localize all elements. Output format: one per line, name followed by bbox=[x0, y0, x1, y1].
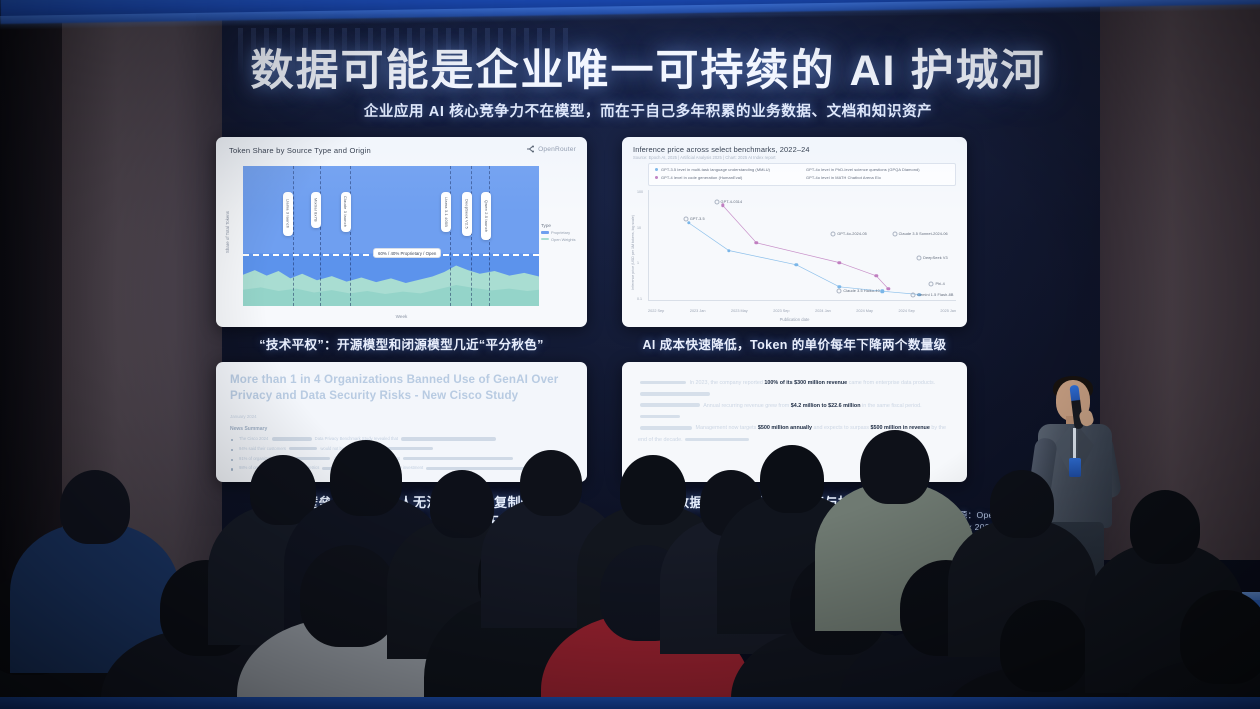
chart2-xtick: 2025 Jan bbox=[940, 309, 956, 313]
blurred-text-run bbox=[640, 381, 686, 385]
conference-photo: 数据可能是企业唯一可持续的 AI 护城河 企业应用 AI 核心竞争力不在模型，而… bbox=[0, 0, 1260, 709]
blurred-text-run bbox=[640, 392, 710, 396]
audience-member-head bbox=[60, 470, 130, 544]
chart2-ytick: 10 bbox=[637, 226, 643, 230]
legend-swatch bbox=[541, 231, 549, 234]
chart1-xlabel: Week bbox=[216, 314, 587, 319]
blurred-text-run bbox=[640, 426, 692, 430]
chart2-legend-item: GPT-4o level in MATH Chatbot Arena Elo bbox=[806, 175, 949, 180]
openrouter-brand: OpenRouter bbox=[526, 145, 576, 153]
audience-member-head bbox=[1130, 490, 1200, 564]
legend-dot bbox=[655, 176, 658, 179]
openrouter-label: OpenRouter bbox=[538, 146, 576, 153]
chart2-annotation-marker bbox=[714, 200, 719, 205]
chart-card-inference-price: Inference price across select benchmarks… bbox=[622, 137, 967, 327]
chart1-marker: DeepSeek V2.5 bbox=[462, 192, 472, 236]
chart2-annotation-label: DeepSeek V3 bbox=[923, 256, 948, 260]
revenue-paragraph: In 2023, the company reported 100% of it… bbox=[638, 378, 951, 401]
chart1-ylabel: Share of Total Tokens bbox=[225, 211, 230, 253]
chart1-marker: Mixtral 8x7B bbox=[311, 192, 321, 228]
chart1-event-line bbox=[471, 166, 472, 306]
audience-member-head bbox=[1000, 600, 1088, 692]
chart2-yticks: 1001010.1 bbox=[637, 190, 643, 301]
chart2-annotation-label: Claude 3.5 Sonnet-2024-06 bbox=[899, 232, 948, 236]
chart2-legend-item: GPT-4 level in code generation (HumanEva… bbox=[655, 175, 798, 180]
chart2-legend: GPT-3.5 level in multi-task language und… bbox=[648, 163, 956, 186]
chart2-xtick: 2023 Sep bbox=[773, 309, 789, 313]
audience-member-head bbox=[300, 545, 398, 647]
chart1-legend-item: Proprietary bbox=[541, 230, 579, 235]
chart2-xtick: 2024 Jan bbox=[815, 309, 831, 313]
revenue-highlight: $500 million annually bbox=[758, 425, 812, 431]
audience-member-head bbox=[1180, 590, 1260, 684]
chart2-plot: GPT-3.5GPT-4-0314GPT-4o-2024-05Claude 3.… bbox=[648, 190, 956, 301]
chart2-annotation-marker bbox=[837, 289, 842, 294]
chart2-annotation-label: GPT-3.5 bbox=[690, 217, 705, 221]
cisco-bullet: 94% said their customers would not buy f… bbox=[230, 446, 573, 452]
caption-left: “技术平权”：开源模型和闭源模型几近“平分秋色” bbox=[216, 334, 587, 353]
chart2-annotation-marker bbox=[929, 281, 934, 286]
slide-subtitle: 企业应用 AI 核心竞争力不在模型，而在于自己多年积累的业务数据、文档和知识资产 bbox=[196, 100, 1100, 121]
chart1-marker: Llama 3 launch bbox=[283, 192, 293, 236]
audience-member-head bbox=[330, 440, 402, 516]
chart1-legend: Type Proprietary Open Weights bbox=[541, 223, 579, 243]
chart2-annotation-marker bbox=[831, 232, 836, 237]
blurred-text-run bbox=[640, 415, 680, 419]
chart2-xticks: 2022 Sep2023 Jan2023 May2023 Sep2024 Jan… bbox=[648, 309, 956, 313]
legend-dot bbox=[655, 168, 658, 171]
chart2-lines bbox=[649, 190, 956, 300]
chart2-ytick: 100 bbox=[637, 190, 643, 194]
audience-member-head bbox=[520, 450, 582, 516]
openrouter-icon bbox=[526, 145, 535, 153]
chart2-subtitle: Source: Epoch AI, 2025 | Artificial Anal… bbox=[633, 155, 776, 160]
chart2-legend-item: GPT-3.5 level in multi-task language und… bbox=[655, 167, 798, 172]
chart2-ylabel: Inference price (USD per 1M tokens, log … bbox=[631, 215, 635, 290]
chart1-legend-item: Open Weights bbox=[541, 237, 579, 242]
chart1-title: Token Share by Source Type and Origin bbox=[229, 146, 371, 155]
blurred-text-run bbox=[296, 457, 330, 460]
chart-card-token-share: Token Share by Source Type and Origin Op… bbox=[216, 137, 587, 327]
chart2-legend-item: GPT-4o level in PhD-level science questi… bbox=[806, 167, 949, 172]
chart2-annotation-label: GPT-4o-2024-05 bbox=[837, 232, 867, 236]
chart2-annotation-label: Claude 3.5 Haiku-40 bbox=[843, 289, 880, 293]
cisco-bullet: The Cisco 2024 Data Privacy Benchmark St… bbox=[230, 436, 573, 442]
chart2-annotation-label: Gemini 1.5 Flash-8B bbox=[917, 293, 954, 297]
chart2-xtick: 2024 May bbox=[856, 309, 873, 313]
floor-strip bbox=[0, 697, 1260, 709]
audience-member-head bbox=[430, 470, 494, 538]
revenue-highlight: $4.2 million to $22.6 million bbox=[791, 403, 861, 409]
chart1-plot: Llama 3 launch Mixtral 8x7B Claude 3 lau… bbox=[243, 166, 539, 306]
blurred-text-run bbox=[403, 457, 513, 460]
presenter-lanyard bbox=[1073, 428, 1076, 460]
chart2-ytick: 1 bbox=[637, 261, 643, 265]
chart2-annotation-marker bbox=[911, 292, 916, 297]
audience-member-head bbox=[760, 445, 824, 513]
chart2-annotation-marker bbox=[683, 216, 688, 221]
caption-right: AI 成本快速降低，Token 的单价每年下降两个数量级 bbox=[622, 334, 967, 353]
chart2-annotation-marker bbox=[892, 232, 897, 237]
revenue-paragraph: Annual recurring revenue grew from $4.2 … bbox=[638, 401, 951, 424]
chart1-legend-title: Type bbox=[541, 223, 579, 228]
chart2-ytick: 0.1 bbox=[637, 297, 643, 301]
audience-member-head bbox=[990, 470, 1054, 538]
cisco-headline: More than 1 in 4 Organizations Banned Us… bbox=[230, 372, 573, 405]
legend-swatch bbox=[541, 238, 549, 241]
chart1-event-line bbox=[450, 166, 451, 306]
chart2-xtick: 2023 May bbox=[731, 309, 748, 313]
blurred-text-run bbox=[640, 403, 700, 407]
chart1-marker: Llama 3.1 405B bbox=[441, 192, 451, 232]
chart2-annotation-label: Phi-4 bbox=[935, 282, 944, 286]
revenue-highlight: 100% of its $300 million revenue bbox=[764, 380, 847, 386]
chart1-event-line bbox=[350, 166, 351, 306]
chart1-event-line bbox=[293, 166, 294, 306]
blurred-text-run bbox=[685, 438, 749, 442]
blurred-text-run bbox=[272, 437, 312, 440]
projected-slide: 数据可能是企业唯一可持续的 AI 护城河 企业应用 AI 核心竞争力不在模型，而… bbox=[196, 14, 1100, 526]
blurred-text-run bbox=[289, 447, 317, 450]
chart2-xlabel: Publication date bbox=[622, 317, 967, 322]
chart2-title: Inference price across select benchmarks… bbox=[633, 145, 810, 154]
audience-member-head bbox=[860, 430, 930, 504]
chart1-marker: Qwen 2.5 launch bbox=[481, 192, 491, 240]
presenter-badge bbox=[1069, 458, 1081, 477]
chart2-annotation-label: GPT-4-0314 bbox=[721, 200, 743, 204]
chart1-marker: Claude 3 launch bbox=[341, 192, 351, 232]
chart1-event-line bbox=[320, 166, 321, 306]
chart2-xtick: 2024 Sep bbox=[899, 309, 915, 313]
chart2-xtick: 2023 Jan bbox=[690, 309, 706, 313]
blurred-text-run bbox=[401, 437, 496, 440]
chart1-threshold-label: 60% / 40% Proprietary / Open bbox=[373, 248, 441, 258]
chart2-annotation-marker bbox=[917, 256, 922, 261]
slide-title: 数据可能是企业唯一可持续的 AI 护城河 bbox=[196, 36, 1100, 98]
chart2-xtick: 2022 Sep bbox=[648, 309, 664, 313]
cisco-date: January 2024 bbox=[230, 414, 257, 419]
cisco-section-label: News Summary bbox=[230, 426, 267, 432]
audience-member-head bbox=[620, 455, 686, 525]
